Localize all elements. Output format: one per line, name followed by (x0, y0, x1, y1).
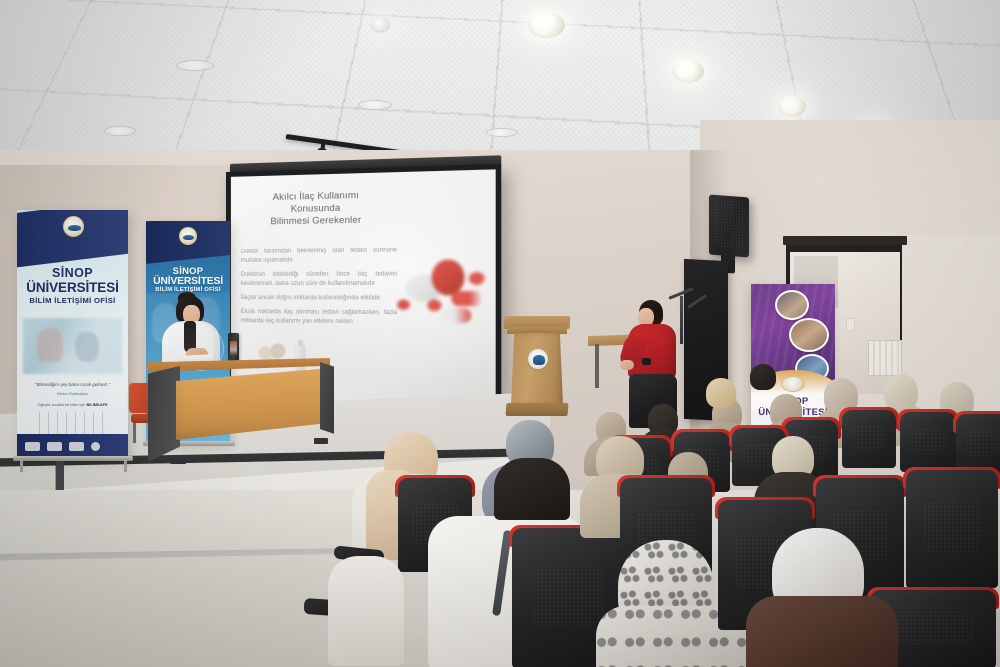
microphone-stand (680, 296, 683, 344)
slide-bullet: Doktorun belirlediği süreden önce ilaç t… (241, 270, 397, 288)
banner-title-line-2: ÜNİVERSİTESİ (17, 280, 128, 295)
university-logo-icon (63, 216, 84, 237)
audience-head (706, 378, 736, 408)
banner-subtitle: BİLİM İLETİŞİMİ OFİSİ (17, 296, 128, 305)
banner-title-line-1: SİNOP (17, 266, 128, 280)
slide-title: Akılcı İlaç Kullanımı Konusunda Bilinmes… (240, 188, 394, 229)
auditorium-seat[interactable] (842, 410, 896, 468)
lectern-body (511, 333, 563, 405)
smoke-detector-icon (372, 18, 389, 31)
slide-bullet: İlaçlar ancak doğru miktarda kullanıldığ… (241, 294, 397, 303)
ceiling-downlight (672, 60, 704, 83)
presenter-desk (148, 358, 330, 468)
wall-switch-icon[interactable] (846, 318, 855, 331)
seat-mesh (910, 428, 946, 454)
audience-shoulders (746, 596, 898, 667)
desk-right-panel (320, 362, 334, 440)
seminar-room-photo: Akılcı İlaç Kullanımı Konusunda Bilinmes… (0, 0, 1000, 667)
banner-title-line-2: ÜNİVERSİTESİ (146, 276, 230, 287)
banner-bilim-iletisimi-white: SİNOP ÜNİVERSİTESİ BİLİM İLETİŞİMİ OFİSİ… (17, 210, 128, 458)
sponsor-logo-icon (25, 442, 40, 451)
banner-tagline: Öğleyle sıcakta bir bilim için BİLİMKAFE (23, 402, 122, 407)
seat-mesh (965, 430, 998, 456)
sponsor-logo-icon (91, 442, 100, 451)
ceiling-vent (176, 60, 214, 71)
banner-stand-leg (124, 460, 127, 472)
banner-quote: "Bilmediğim şey bana sıcak gelmez." (23, 382, 122, 388)
table-leg (595, 344, 599, 388)
desk-foot (314, 438, 328, 444)
wristwatch-icon (642, 358, 651, 365)
audience-head (750, 364, 776, 390)
banner-title-block: SİNOP ÜNİVERSİTESİ BİLİM İLETİŞİMİ OFİSİ (17, 266, 128, 305)
ceiling-vent (358, 100, 392, 110)
slide-bullet: Eksik miktarda ilaç alınması tedavi sağl… (241, 308, 397, 327)
desk-foot (170, 458, 186, 464)
wooden-lectern (504, 316, 570, 416)
ceiling-downlight (778, 96, 806, 117)
seat-mesh (893, 610, 974, 644)
banner-tagline-prefix: Öğleyle sıcakta bir bilim için (37, 402, 85, 407)
audience-shoulders (494, 458, 570, 520)
slide-title-line-3: Bilinmesi Gerekenler (240, 213, 394, 228)
university-seal-icon (528, 349, 548, 369)
slide-bullet: Doktor tarafından belirlenmiş olan tedav… (241, 246, 397, 265)
hand (620, 360, 634, 370)
pa-speaker (709, 195, 749, 258)
auditorium-seat[interactable] (906, 470, 998, 588)
banner-stand-base (13, 456, 133, 461)
banner-photo (23, 318, 122, 374)
lectern-shelf (507, 327, 567, 334)
sponsor-logo-icon (69, 442, 84, 451)
chair-leg (133, 423, 136, 443)
banner-quote-author: Nérium Radholoyüz (23, 392, 122, 396)
university-logo-icon (781, 376, 805, 392)
audience-lap (328, 556, 404, 666)
capsules-image (395, 251, 496, 332)
slide-bullet-list: Doktor tarafından belirlenmiş olan tedav… (241, 246, 397, 332)
desk-front-panel (176, 368, 330, 440)
ceiling-downlight (528, 12, 565, 38)
ceiling-vent (486, 128, 518, 137)
banner-photo-circle (789, 318, 829, 352)
banner-sponsor-logos (25, 440, 120, 453)
university-logo-icon (179, 227, 197, 245)
banner-photo-circle (775, 290, 809, 320)
banner-title-block: SİNOP ÜNİVERSİTESİ BİLİM İLETİŞİMİ OFİSİ (146, 265, 230, 293)
auditorium-seat[interactable] (956, 414, 1000, 474)
banner-stand-leg (20, 460, 23, 472)
door-header-trim (783, 236, 907, 245)
seat-mesh (923, 501, 982, 553)
seat-mesh (852, 425, 887, 451)
radiator-icon (868, 340, 902, 376)
banner-tagline-brand: BİLİMKAFE (86, 402, 107, 407)
sponsor-logo-icon (47, 442, 62, 451)
banner-title-line-1: SİNOP (146, 265, 230, 276)
desk-left-panel (148, 366, 180, 462)
auditorium-seat[interactable] (900, 412, 956, 472)
ceiling-vent (104, 126, 136, 136)
seat-mesh (532, 564, 604, 626)
lectern-base (506, 403, 569, 416)
